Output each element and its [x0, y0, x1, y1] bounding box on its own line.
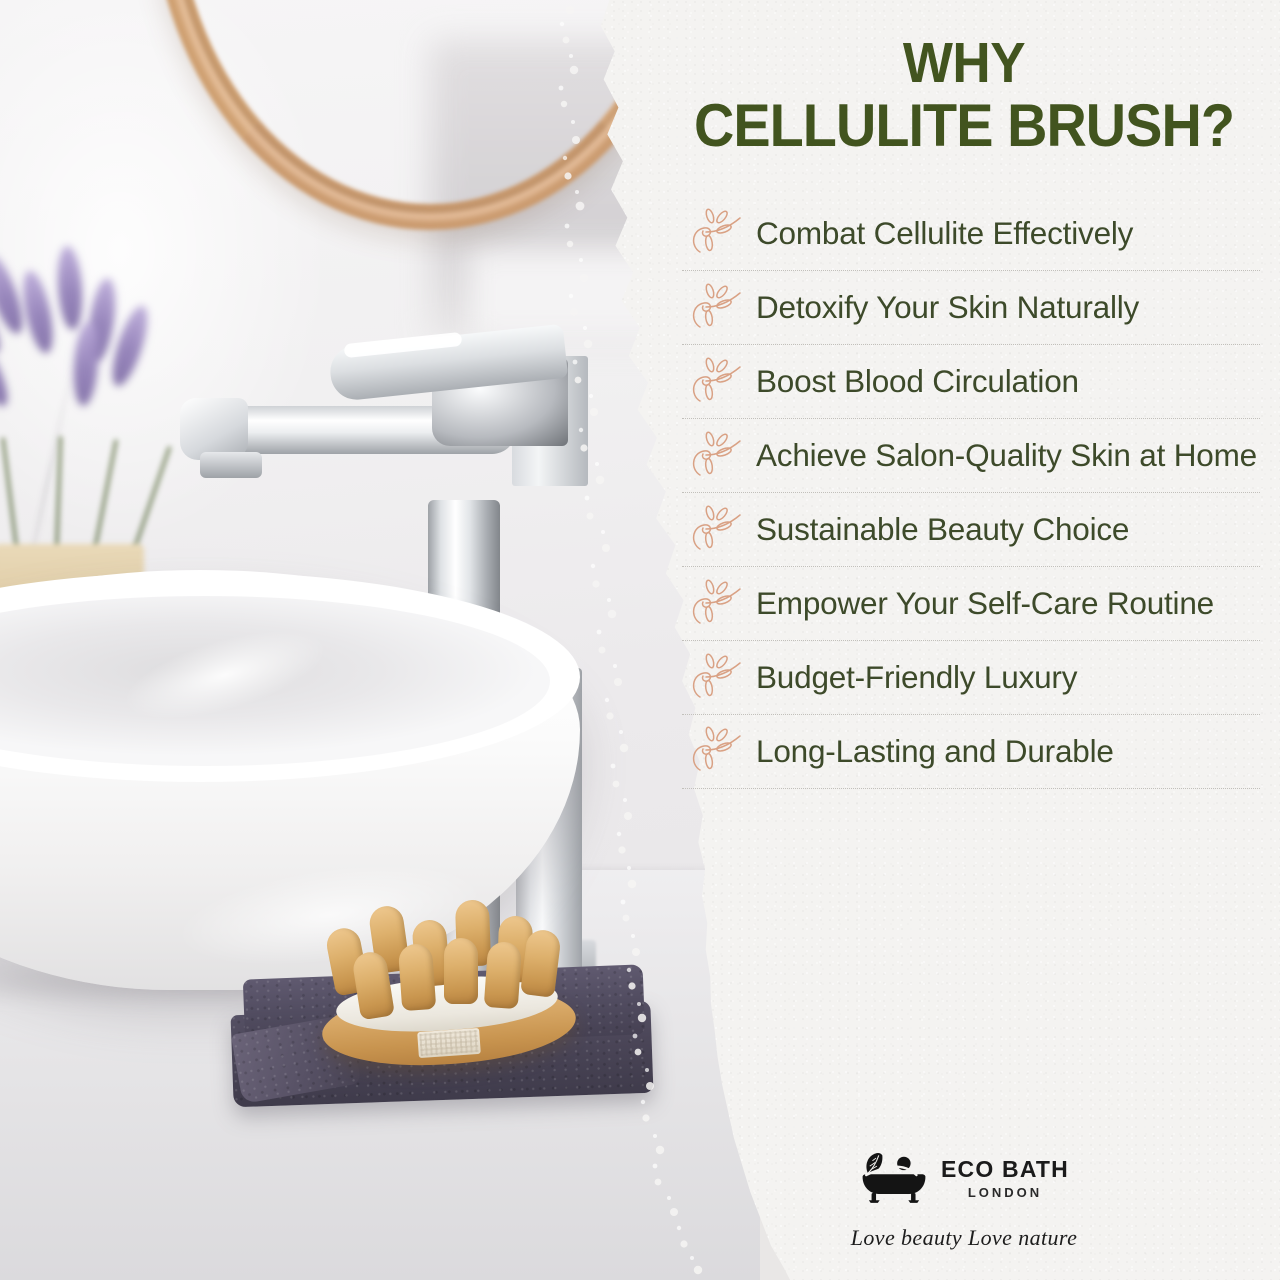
list-item[interactable]: Empower Your Self-Care Routine [682, 566, 1260, 640]
logo-tagline: Love beauty Love nature [660, 1225, 1268, 1251]
sprig-icon [688, 277, 750, 339]
list-item[interactable]: Achieve Salon-Quality Skin at Home [682, 418, 1260, 492]
list-item[interactable]: Long-Lasting and Durable [682, 714, 1260, 789]
list-item-label: Detoxify Your Skin Naturally [756, 287, 1139, 328]
cellulite-brush-strap [417, 1028, 481, 1058]
brand-logo[interactable]: ECO BATH LONDON Love beauty Love nature [660, 1148, 1268, 1251]
list-item[interactable]: Budget-Friendly Luxury [682, 640, 1260, 714]
list-item-label: Empower Your Self-Care Routine [756, 583, 1214, 624]
infographic-canvas: WHY CELLULITE BRUSH? Combat Cellulite Ef… [0, 0, 1280, 1280]
title-line-1: WHY [903, 31, 1025, 95]
logo-location: LONDON [941, 1186, 1069, 1199]
list-item-label: Budget-Friendly Luxury [756, 657, 1077, 698]
list-item-label: Boost Blood Circulation [756, 361, 1079, 402]
content-panel: WHY CELLULITE BRUSH? Combat Cellulite Ef… [660, 0, 1280, 1280]
faucet-tip [180, 398, 248, 460]
list-item-label: Long-Lasting and Durable [756, 731, 1114, 772]
sprig-icon [688, 720, 750, 782]
page-title: WHY CELLULITE BRUSH? [681, 34, 1246, 157]
title-line-2: CELLULITE BRUSH? [681, 94, 1246, 157]
list-item-label: Combat Cellulite Effectively [756, 213, 1133, 254]
list-item-label: Achieve Salon-Quality Skin at Home [756, 435, 1257, 476]
list-item[interactable]: Detoxify Your Skin Naturally [682, 270, 1260, 344]
sprig-icon [688, 351, 750, 413]
sprig-icon [688, 499, 750, 561]
list-item-label: Sustainable Beauty Choice [756, 509, 1129, 550]
sprig-icon [688, 573, 750, 635]
sprig-icon [688, 647, 750, 709]
list-item[interactable]: Combat Cellulite Effectively [682, 196, 1260, 270]
faucet-aerator [200, 452, 262, 478]
brush-nub [484, 941, 523, 1009]
list-item[interactable]: Sustainable Beauty Choice [682, 492, 1260, 566]
logo-brand-name: ECO BATH [941, 1158, 1069, 1181]
sprig-icon [688, 425, 750, 487]
list-item[interactable]: Boost Blood Circulation [682, 344, 1260, 418]
brush-nub [398, 943, 437, 1011]
bathtub-leaf-icon [859, 1148, 929, 1209]
sprig-icon [688, 202, 750, 264]
brush-nub [444, 938, 478, 1004]
benefits-list: Combat Cellulite Effectively Detoxify Yo… [682, 196, 1260, 789]
